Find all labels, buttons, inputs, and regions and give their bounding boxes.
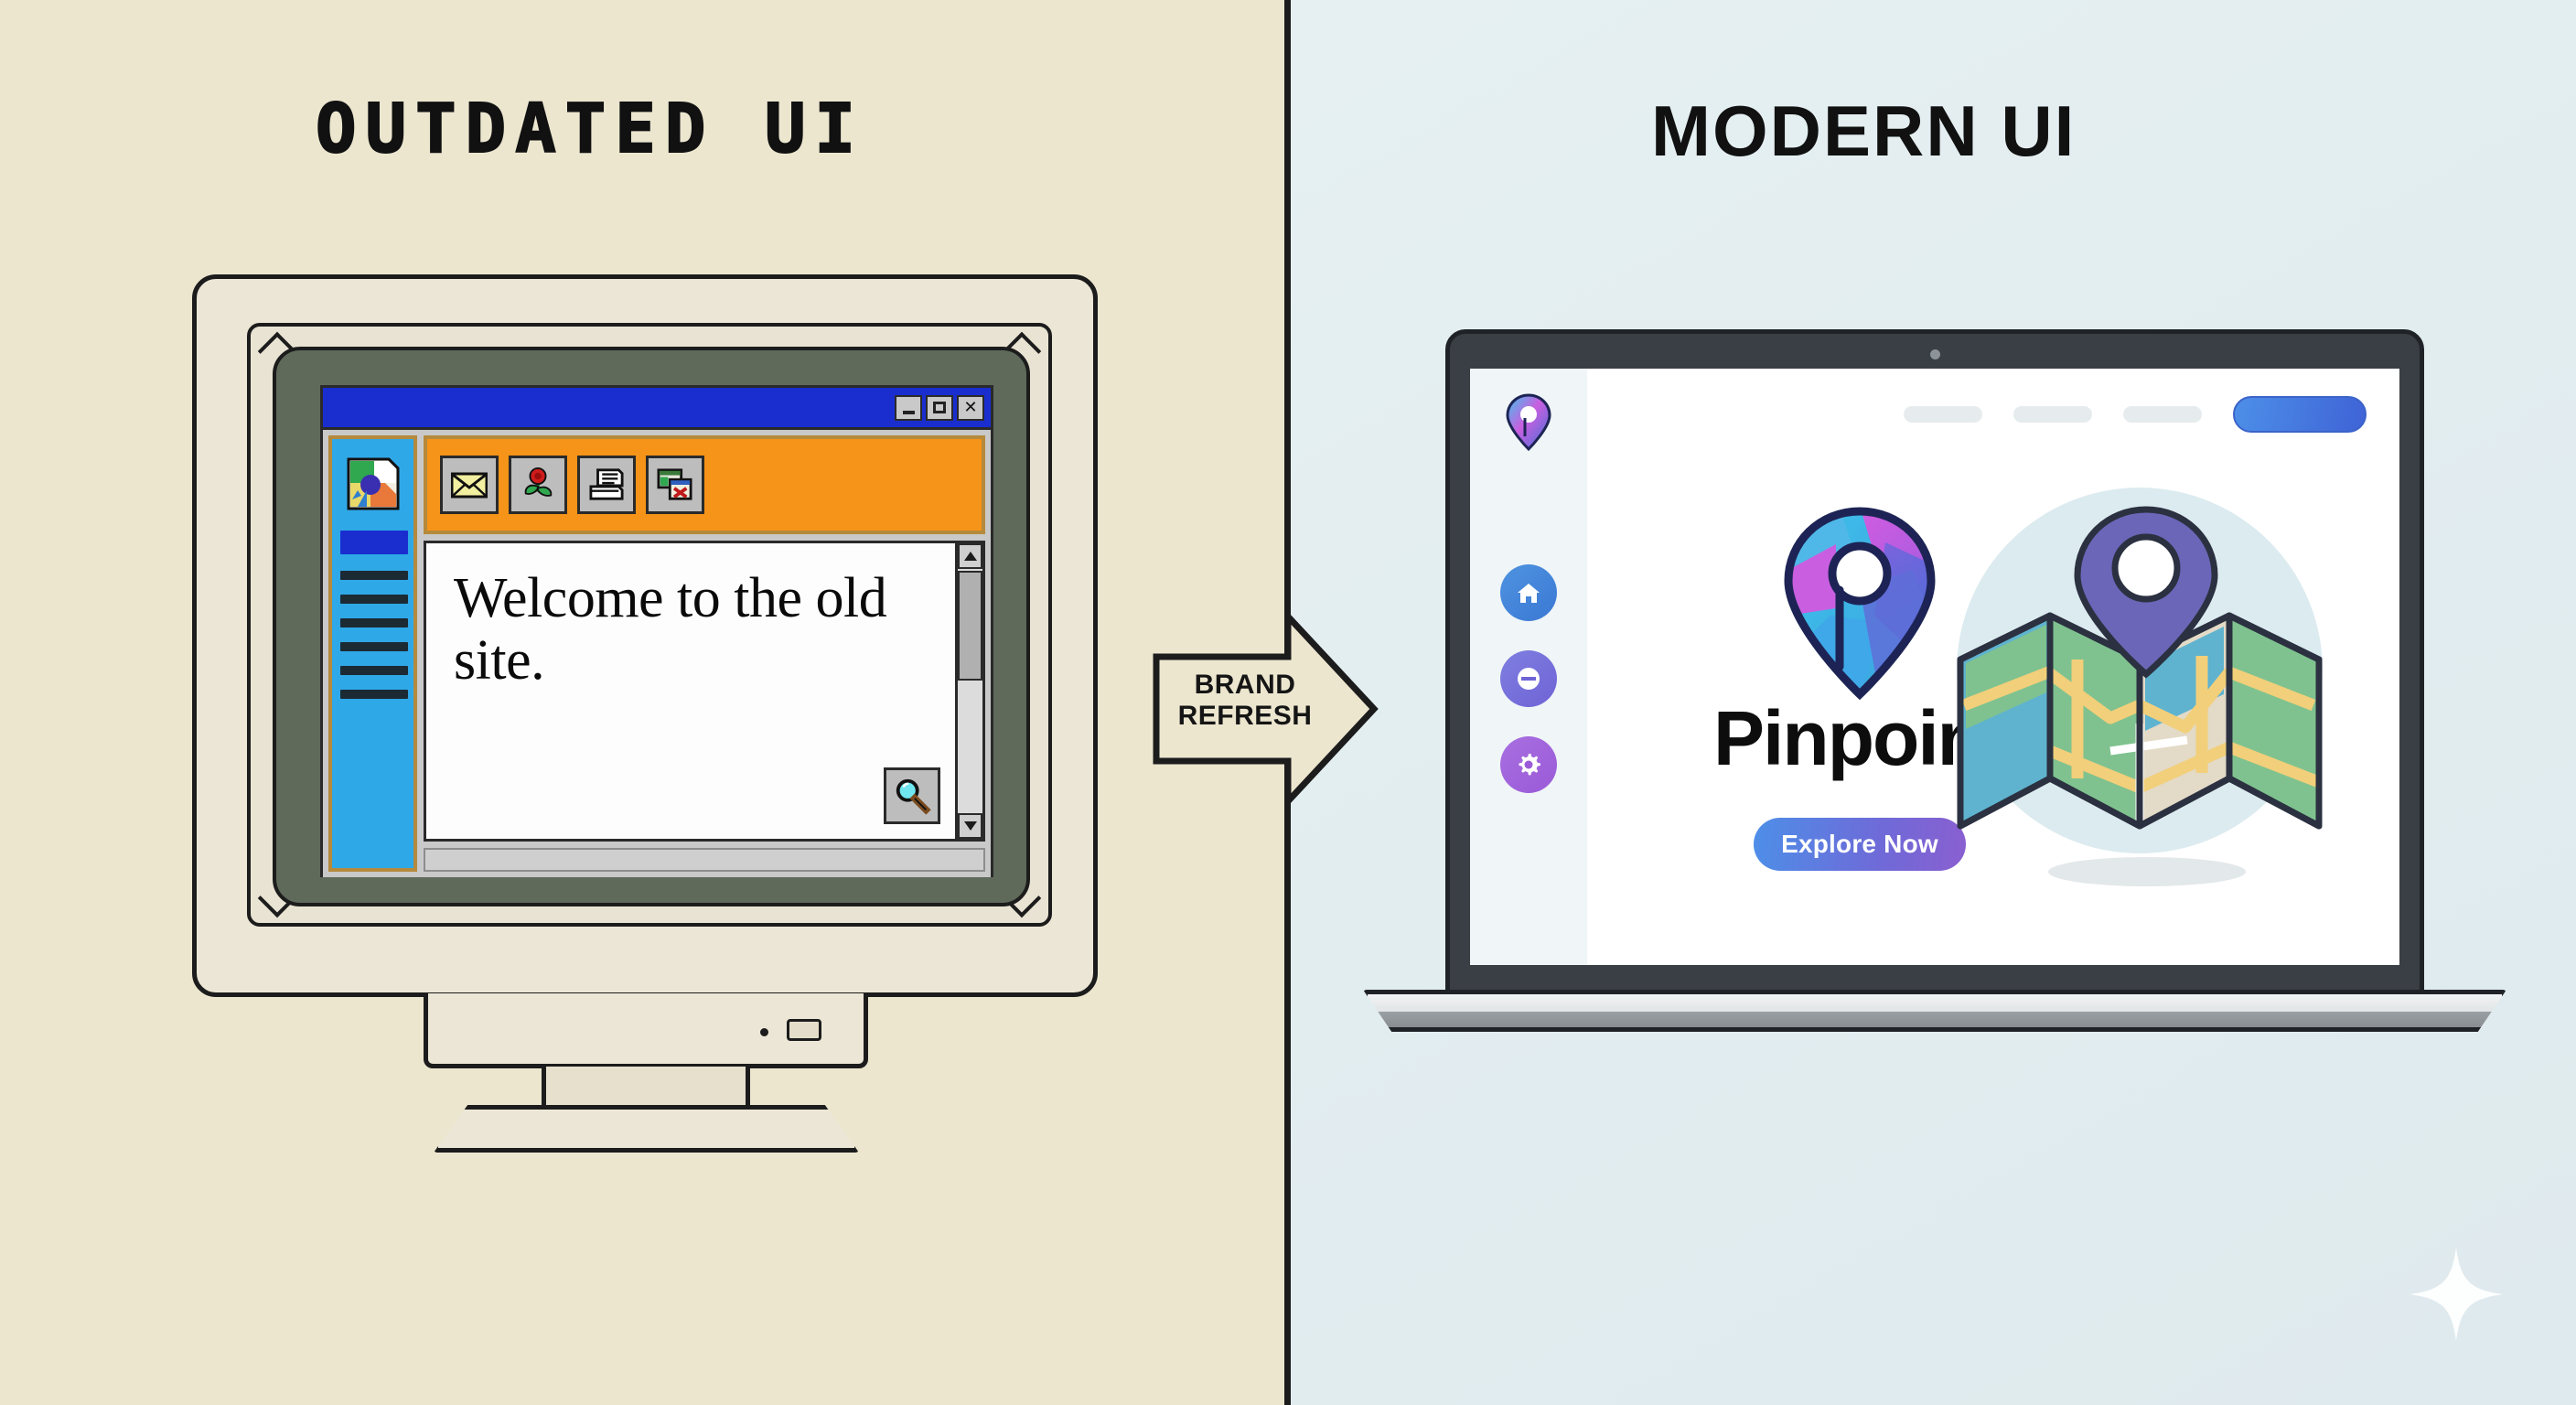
globe-document-icon [343, 454, 403, 514]
gear-icon [1515, 751, 1542, 778]
crt-stand-base [434, 1105, 859, 1153]
webcam-icon [1930, 349, 1940, 359]
chevron-up-icon [964, 552, 977, 561]
sparkle-icon [2406, 1244, 2506, 1345]
sidebar-nav-item[interactable] [340, 571, 408, 580]
nav-link-placeholder[interactable] [2013, 406, 2092, 423]
maximize-icon [933, 402, 946, 413]
laptop-base [1363, 990, 2506, 1032]
close-icon: ✕ [963, 400, 977, 416]
vertical-scrollbar[interactable] [955, 543, 982, 839]
crt-stand-stem [542, 1067, 750, 1110]
retro-window: ✕ [320, 385, 993, 877]
top-navigation [1904, 396, 2367, 433]
sidebar-nav-item[interactable] [340, 618, 408, 627]
scroll-up-button[interactable] [958, 543, 982, 569]
power-button[interactable] [787, 1019, 821, 1041]
broken-image-icon [656, 467, 694, 502]
scrollbar-track[interactable] [958, 681, 982, 813]
power-led-icon [760, 1028, 768, 1036]
close-button[interactable]: ✕ [957, 395, 984, 421]
retro-content-column: Welcome to the old site. [424, 435, 985, 872]
crt-bezel: ✕ [247, 323, 1052, 927]
close-windows-toolbar-button[interactable] [646, 456, 704, 514]
retro-window-body: Welcome to the old site. [323, 430, 991, 877]
sidebar-nav-item[interactable] [340, 666, 408, 675]
sidebar-nav-item[interactable] [340, 690, 408, 699]
scrollbar-thumb[interactable] [958, 571, 982, 681]
brand-refresh-arrow: BRAND REFRESH [1151, 604, 1379, 814]
crt-tube: ✕ [273, 347, 1030, 906]
minimize-button[interactable] [895, 395, 922, 421]
magnifier-icon [893, 777, 931, 815]
crt-neck [424, 993, 868, 1068]
flower-icon [521, 466, 555, 504]
scroll-down-button[interactable] [958, 813, 982, 839]
chevron-down-icon [964, 821, 977, 831]
minimize-icon [903, 411, 915, 414]
nav-link-placeholder[interactable] [1904, 406, 1982, 423]
settings-nav-button[interactable] [1500, 736, 1557, 793]
crt-case: ✕ [192, 274, 1098, 997]
pinpoint-logo-mini-icon[interactable] [1505, 392, 1552, 453]
sidebar-nav-item[interactable] [340, 531, 408, 554]
app-sidebar [1470, 369, 1587, 965]
maximize-button[interactable] [926, 395, 953, 421]
outdated-ui-heading: OUTDATED UI [316, 90, 864, 168]
minus-circle-icon [1515, 665, 1542, 692]
printer-icon [587, 467, 626, 502]
sidebar-nav-item[interactable] [340, 642, 408, 651]
home-icon [1515, 579, 1542, 606]
pinpoint-logo-icon [1776, 506, 1944, 700]
retro-status-bar [424, 848, 985, 872]
arrow-label: BRAND REFRESH [1176, 670, 1314, 731]
nav-link-placeholder[interactable] [2123, 406, 2202, 423]
explore-now-button[interactable]: Explore Now [1754, 818, 1966, 871]
modern-ui-heading: MODERN UI [1651, 90, 2076, 173]
minus-nav-button[interactable] [1500, 650, 1557, 707]
folded-map-illustration [1940, 477, 2352, 906]
laptop: Pinpoint Explore Now [1363, 329, 2506, 1052]
print-toolbar-button[interactable] [577, 456, 636, 514]
retro-toolbar [424, 435, 985, 534]
sidebar-nav-item[interactable] [340, 595, 408, 604]
nav-cta-button[interactable] [2233, 396, 2367, 433]
mail-toolbar-button[interactable] [440, 456, 499, 514]
welcome-text: Welcome to the old site. [454, 567, 959, 692]
app-main-content: Pinpoint Explore Now [1587, 369, 2399, 965]
illustration-shadow [2048, 857, 2246, 886]
crt-monitor: ✕ [192, 274, 1098, 1153]
flower-toolbar-button[interactable] [509, 456, 567, 514]
search-button[interactable] [884, 767, 940, 824]
laptop-lid: Pinpoint Explore Now [1445, 329, 2424, 997]
laptop-screen: Pinpoint Explore Now [1470, 369, 2399, 965]
comparison-canvas: OUTDATED UI MODERN UI [0, 0, 2576, 1405]
home-nav-button[interactable] [1500, 564, 1557, 621]
retro-window-titlebar: ✕ [323, 388, 991, 430]
retro-sidebar [328, 435, 417, 872]
mail-icon [451, 471, 488, 499]
retro-content-area: Welcome to the old site. [424, 541, 985, 842]
